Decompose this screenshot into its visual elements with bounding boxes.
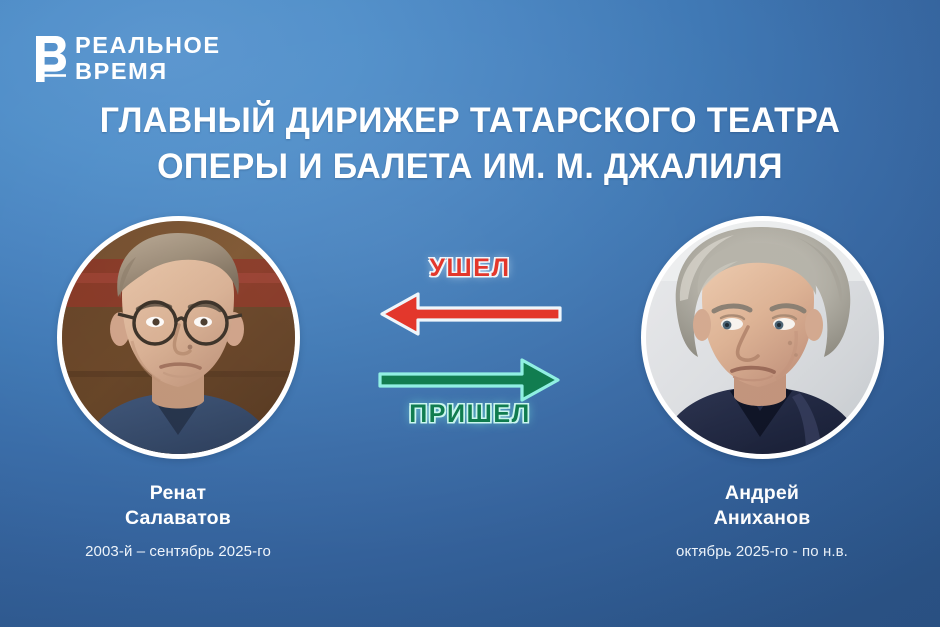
person-dates-outgoing: 2003-й – сентябрь 2025-го — [28, 543, 328, 560]
outgoing-label: УШЕЛ — [370, 254, 570, 283]
arrow-left-icon — [374, 286, 566, 342]
person-card-outgoing: Ренат Салаватов 2003-й – сентябрь 2025-г… — [28, 216, 328, 560]
person-first-name-incoming: Андрей — [612, 481, 912, 506]
page-title-line-1: ГЛАВНЫЙ ДИРИЖЕР ТАТАРСКОГО ТЕАТРА — [14, 98, 926, 144]
person-dates-incoming: октябрь 2025-го - по н.в. — [612, 543, 912, 560]
avatar-incoming-clip — [646, 221, 879, 454]
incoming-label: ПРИШЕЛ — [370, 400, 570, 429]
brand-logo: РЕАЛЬНОЕ ВРЕМЯ — [36, 34, 221, 83]
transition-flow: УШЕЛ ПРИШЕЛ — [370, 248, 570, 448]
person-last-name-incoming: Аниханов — [612, 506, 912, 531]
brand-logo-wordmark: РЕАЛЬНОЕ ВРЕМЯ — [75, 34, 221, 83]
person-first-name-outgoing: Ренат — [28, 481, 328, 506]
person-name-outgoing: Ренат Салаватов — [28, 481, 328, 531]
brand-logo-line-2: ВРЕМЯ — [75, 60, 221, 84]
avatar-outgoing-clip — [62, 221, 295, 454]
avatar-incoming — [641, 216, 884, 459]
page-title-line-2: ОПЕРЫ И БАЛЕТА ИМ. М. ДЖАЛИЛЯ — [14, 144, 926, 190]
avatar-outgoing — [57, 216, 300, 459]
person-name-incoming: Андрей Аниханов — [612, 481, 912, 531]
brand-logo-line-1: РЕАЛЬНОЕ — [75, 34, 221, 58]
infographic-canvas: РЕАЛЬНОЕ ВРЕМЯ ГЛАВНЫЙ ДИРИЖЕР ТАТАРСКОГ… — [0, 0, 940, 627]
realnoe-vremya-mark-icon — [36, 36, 66, 82]
person-card-incoming: Андрей Аниханов октябрь 2025-го - по н.в… — [612, 216, 912, 560]
person-last-name-outgoing: Салаватов — [28, 506, 328, 531]
page-title: ГЛАВНЫЙ ДИРИЖЕР ТАТАРСКОГО ТЕАТРА ОПЕРЫ … — [14, 98, 926, 190]
